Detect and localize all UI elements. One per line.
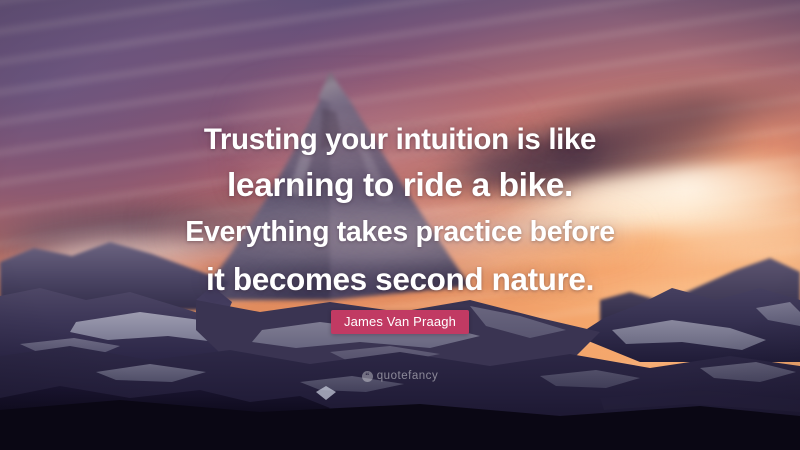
quote-line-2: learning to ride a bike. <box>0 162 800 209</box>
quote-line-1: Trusting your intuition is like <box>0 117 800 162</box>
quote-line-3: Everything takes practice before <box>0 209 800 256</box>
quotefancy-logo-icon: “ <box>362 371 373 382</box>
quote-text: Trusting your intuition is like learning… <box>0 117 800 302</box>
author-attribution: James Van Praagh <box>0 310 800 334</box>
quote-poster: Trusting your intuition is like learning… <box>0 0 800 450</box>
watermark-inner: “ quotefancy <box>362 370 438 382</box>
author-name-badge: James Van Praagh <box>331 310 469 334</box>
quote-line-4: it becomes second nature. <box>0 256 800 302</box>
watermark-brand-text: quotefancy <box>377 370 438 382</box>
watermark: “ quotefancy <box>0 365 800 383</box>
